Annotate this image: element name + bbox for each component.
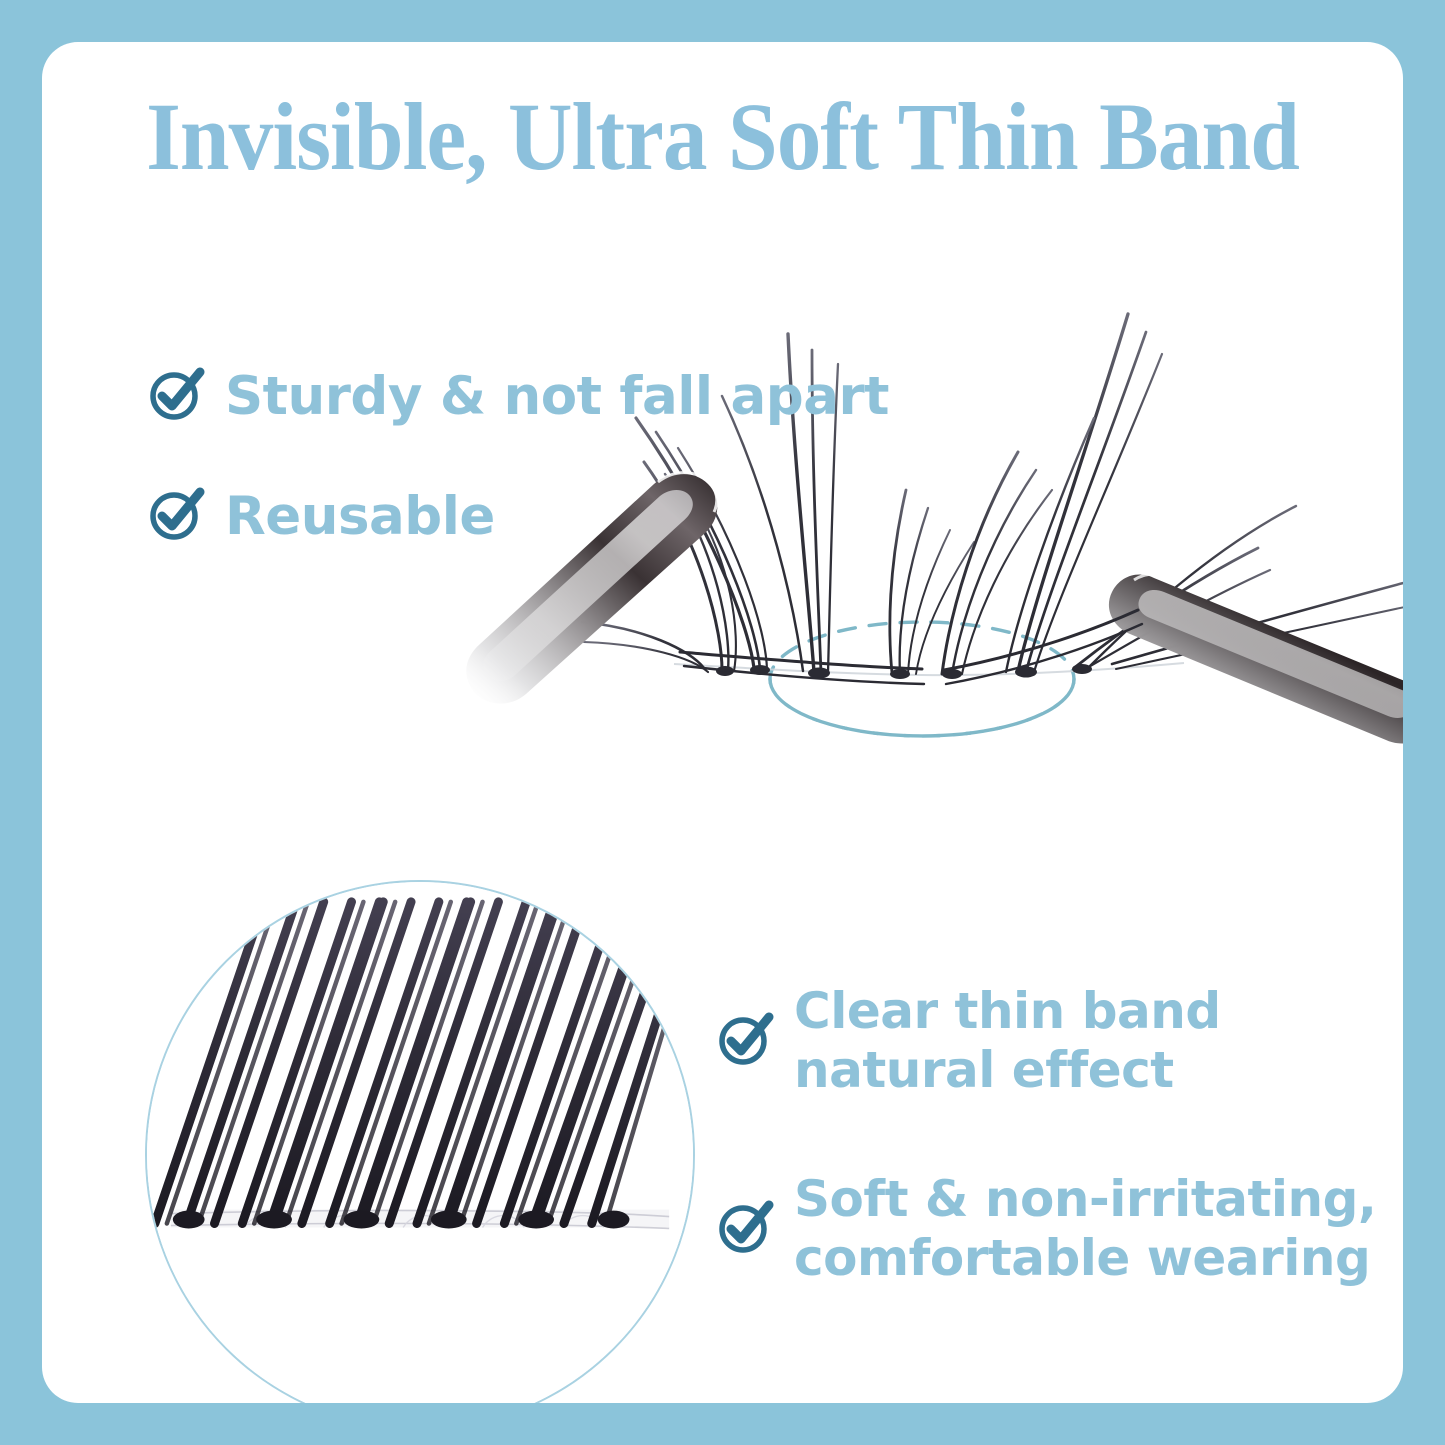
feature-label-line: comfortable wearing xyxy=(794,1229,1376,1288)
feature-item-reusable: Reusable xyxy=(147,485,495,548)
feature-item-sturdy: Sturdy & not fall apart xyxy=(147,365,889,428)
feature-item-clear-thin-band: Clear thin band natural effect xyxy=(716,982,1221,1100)
feature-label-block: Soft & non-irritating, comfortable weari… xyxy=(794,1170,1376,1288)
feature-label-line: natural effect xyxy=(794,1041,1221,1100)
feature-label-line: Soft & non-irritating, xyxy=(794,1170,1376,1229)
tweezer-left xyxy=(466,473,717,704)
tweezer-right xyxy=(1109,574,1403,744)
infographic-page: Invisible, Ultra Soft Thin Band xyxy=(0,0,1445,1445)
feature-label-line: Clear thin band xyxy=(794,982,1221,1041)
check-circle-icon xyxy=(716,1198,774,1261)
feature-label-block: Clear thin band natural effect xyxy=(794,982,1221,1100)
check-circle-icon xyxy=(147,365,205,428)
check-circle-icon xyxy=(147,485,205,548)
check-circle-icon xyxy=(716,1010,774,1073)
content-card: Invisible, Ultra Soft Thin Band xyxy=(42,42,1403,1403)
lash-band-macro-closeup-photo xyxy=(145,880,695,1403)
feature-label: Reusable xyxy=(225,487,495,546)
dashed-ellipse-front-arc xyxy=(770,679,1074,736)
page-title: Invisible, Ultra Soft Thin Band xyxy=(90,87,1356,188)
feature-label: Sturdy & not fall apart xyxy=(225,367,889,426)
feature-item-soft-non-irritating: Soft & non-irritating, comfortable weari… xyxy=(716,1170,1376,1288)
